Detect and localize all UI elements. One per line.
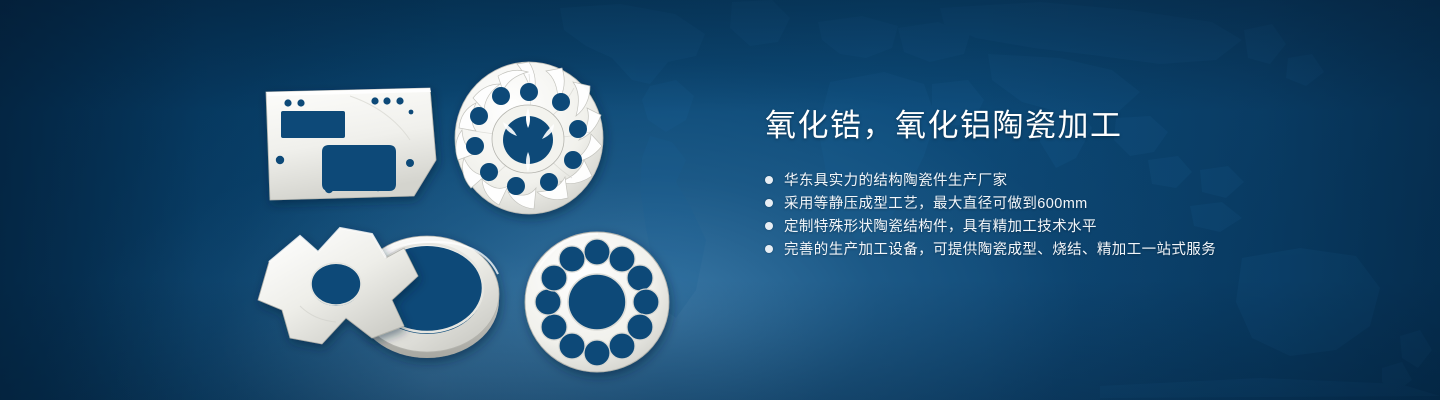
bullet-dot-icon xyxy=(765,199,773,207)
feature-item-3: 定制特殊形状陶瓷结构件，具有精加工技术水平 xyxy=(765,214,1405,237)
product-photo-group xyxy=(0,0,720,400)
feature-item-1: 华东具实力的结构陶瓷件生产厂家 xyxy=(765,168,1405,191)
feature-item-4: 完善的生产加工设备，可提供陶瓷成型、烧结、精加工一站式服务 xyxy=(765,237,1405,260)
feature-item-2-label: 采用等静压成型工艺，最大直径可做到600mm xyxy=(784,192,1088,213)
feature-item-3-label: 定制特殊形状陶瓷结构件，具有精加工技术水平 xyxy=(784,215,1097,236)
feature-item-4-label: 完善的生产加工设备，可提供陶瓷成型、烧结、精加工一站式服务 xyxy=(784,238,1216,259)
bullet-dot-icon xyxy=(765,222,773,230)
feature-item-2: 采用等静压成型工艺，最大直径可做到600mm xyxy=(765,191,1405,214)
feature-item-1-label: 华东具实力的结构陶瓷件生产厂家 xyxy=(784,169,1008,190)
banner-copy-block: 氧化锆，氧化铝陶瓷加工 华东具实力的结构陶瓷件生产厂家 采用等静压成型工艺，最大… xyxy=(765,106,1405,260)
banner-feature-list: 华东具实力的结构陶瓷件生产厂家 采用等静压成型工艺，最大直径可做到600mm 定… xyxy=(765,168,1405,260)
promo-banner: 氧化锆，氧化铝陶瓷加工 华东具实力的结构陶瓷件生产厂家 采用等静压成型工艺，最大… xyxy=(0,0,1440,400)
product-ceramic-perforated-disc xyxy=(525,232,669,372)
bullet-dot-icon xyxy=(765,176,773,184)
product-ceramic-mounting-plate xyxy=(266,88,436,200)
banner-headline: 氧化锆，氧化铝陶瓷加工 xyxy=(765,106,1405,146)
product-ceramic-impeller-wheel xyxy=(455,62,603,214)
bullet-dot-icon xyxy=(765,245,773,253)
